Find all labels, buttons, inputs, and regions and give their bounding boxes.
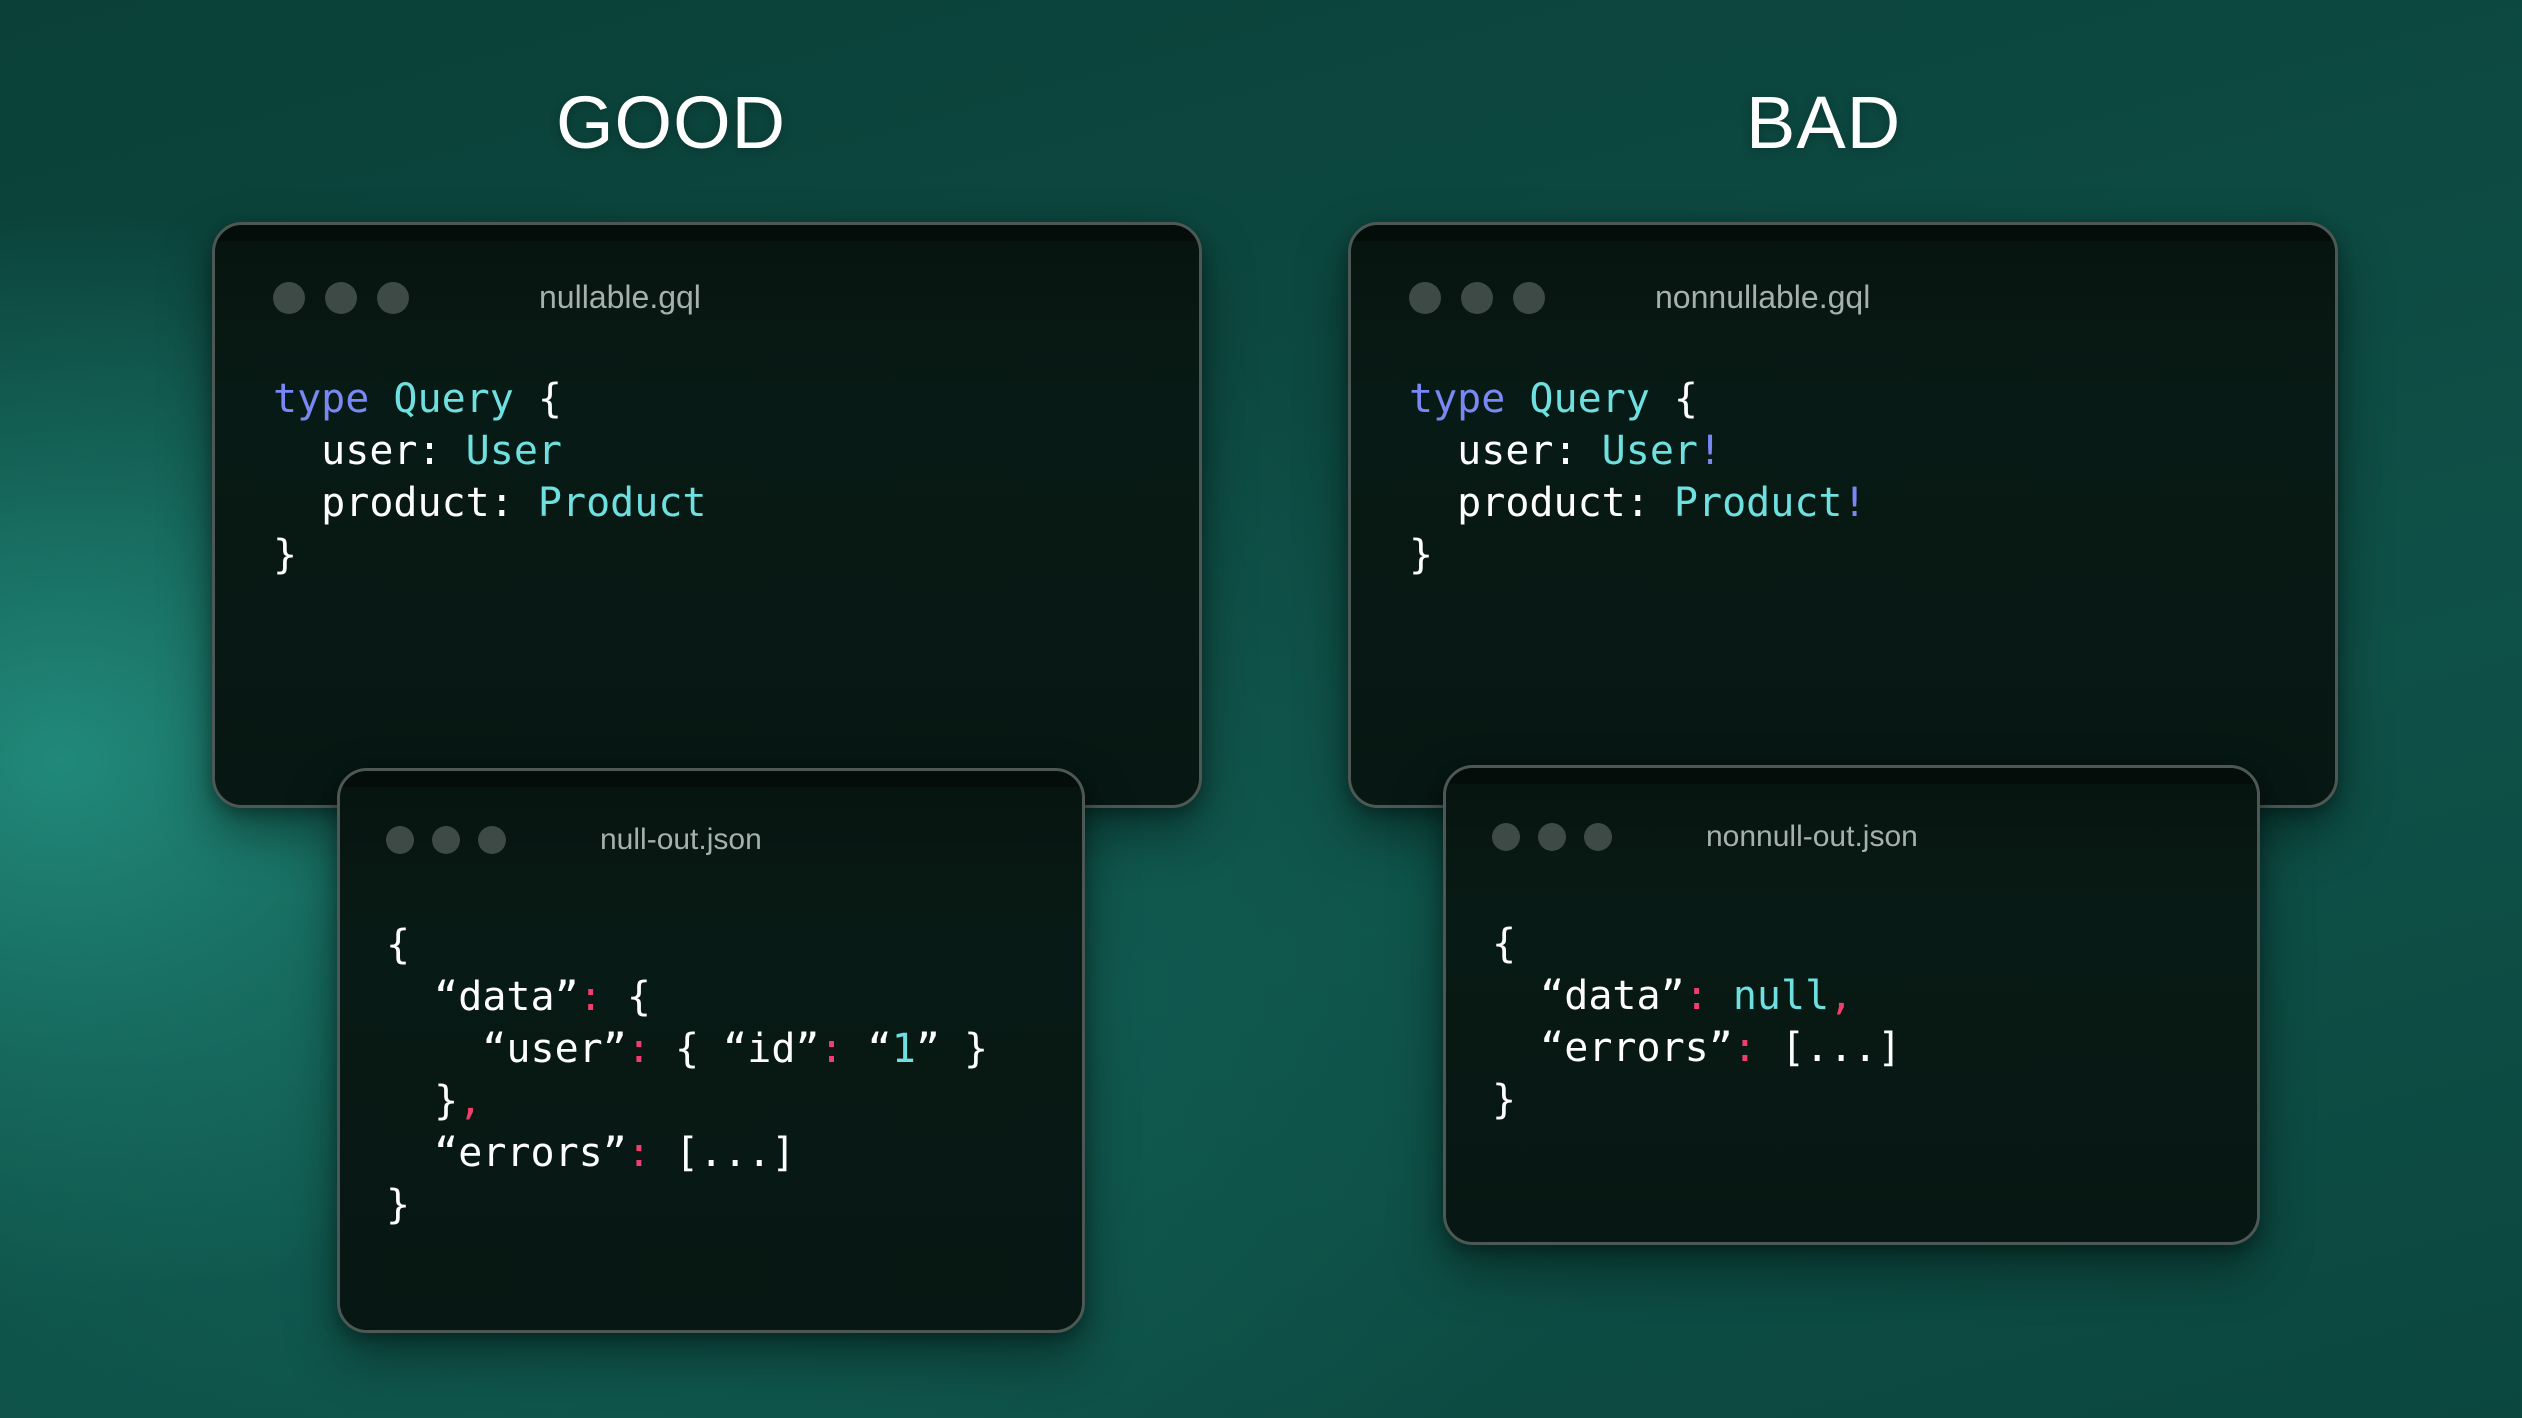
code-token: Query	[393, 376, 513, 422]
code-token: type	[1409, 376, 1505, 422]
code-token: }	[1492, 1077, 1516, 1123]
code-window-nullable-gql[interactable]: nullable.gql type Query { user: User pro…	[212, 222, 1202, 808]
code-token	[1709, 973, 1733, 1019]
code-block-nonnull-out-json: { “data”: null, “errors”: [...]}	[1492, 918, 1901, 1126]
traffic-lights	[386, 826, 506, 854]
code-token: Query	[1529, 376, 1649, 422]
code-line: “data”: null,	[1492, 970, 1901, 1022]
code-line: type Query {	[273, 373, 706, 425]
code-token: user:	[1409, 428, 1602, 474]
traffic-dot-minimize-icon[interactable]	[1538, 823, 1566, 851]
code-token: !	[1842, 480, 1866, 526]
window-filename: nonnullable.gql	[1655, 279, 1870, 316]
code-line: }	[273, 529, 706, 581]
code-line: “user”: { “id”: “1” }	[386, 1023, 988, 1075]
code-line: “errors”: [...]	[386, 1127, 988, 1179]
window-titlebar: null-out.json	[340, 823, 1082, 857]
code-token: }	[386, 1182, 410, 1228]
window-filename: nonnull-out.json	[1706, 820, 1918, 854]
traffic-lights	[1492, 823, 1612, 851]
code-token: {	[1650, 376, 1698, 422]
code-token: “	[844, 1026, 892, 1072]
section-title-good: GOOD	[556, 86, 786, 160]
code-token: {	[514, 376, 562, 422]
code-token: product:	[273, 480, 538, 526]
window-filename: nullable.gql	[539, 279, 701, 316]
window-titlebar: nonnull-out.json	[1446, 820, 2257, 854]
code-line: “errors”: [...]	[1492, 1022, 1901, 1074]
code-window-nonnullable-gql[interactable]: nonnullable.gql type Query { user: User!…	[1348, 222, 2338, 808]
code-block-null-out-json: { “data”: { “user”: { “id”: “1” } }, “er…	[386, 919, 988, 1231]
window-top-strip	[215, 225, 1199, 241]
code-token: 1	[892, 1026, 916, 1072]
code-line: }	[1409, 529, 1867, 581]
code-line: user: User!	[1409, 425, 1867, 477]
code-token: “errors”	[1492, 1025, 1733, 1071]
code-line: type Query {	[1409, 373, 1867, 425]
code-token: :	[627, 1130, 651, 1176]
code-token: “data”	[386, 974, 579, 1020]
code-line: }	[386, 1179, 988, 1231]
traffic-dot-close-icon[interactable]	[1492, 823, 1520, 851]
code-token: ,	[458, 1078, 482, 1124]
traffic-dot-minimize-icon[interactable]	[325, 282, 357, 314]
traffic-lights	[1409, 282, 1545, 314]
window-top-strip	[1446, 768, 2257, 784]
code-token: “errors”	[386, 1130, 627, 1176]
window-top-strip	[340, 771, 1082, 787]
code-token: Product	[538, 480, 707, 526]
code-token: [...]	[1757, 1025, 1902, 1071]
code-token: :	[579, 974, 603, 1020]
traffic-dot-close-icon[interactable]	[386, 826, 414, 854]
code-line: {	[386, 919, 988, 971]
code-token: {	[1492, 921, 1516, 967]
code-line: “data”: {	[386, 971, 988, 1023]
window-inner: null-out.json { “data”: { “user”: { “id”…	[340, 771, 1082, 1330]
code-token: [...]	[651, 1130, 796, 1176]
code-token: { “id”	[651, 1026, 820, 1072]
code-line: user: User	[273, 425, 706, 477]
window-filename: null-out.json	[600, 823, 762, 857]
traffic-dot-minimize-icon[interactable]	[432, 826, 460, 854]
code-block-nullable-gql: type Query { user: User product: Product…	[273, 373, 706, 581]
code-window-nonnull-out-json[interactable]: nonnull-out.json { “data”: null, “errors…	[1443, 765, 2260, 1245]
code-token: :	[820, 1026, 844, 1072]
traffic-dot-maximize-icon[interactable]	[377, 282, 409, 314]
code-token: type	[273, 376, 369, 422]
window-titlebar: nullable.gql	[215, 279, 1199, 316]
traffic-lights	[273, 282, 409, 314]
code-block-nonnullable-gql: type Query { user: User! product: Produc…	[1409, 373, 1867, 581]
code-line: }	[1492, 1074, 1901, 1126]
code-token	[1505, 376, 1529, 422]
code-token: user:	[273, 428, 466, 474]
traffic-dot-minimize-icon[interactable]	[1461, 282, 1493, 314]
traffic-dot-maximize-icon[interactable]	[478, 826, 506, 854]
code-token: }	[273, 532, 297, 578]
code-token: User	[466, 428, 562, 474]
code-token: “data”	[1492, 973, 1685, 1019]
code-token: :	[627, 1026, 651, 1072]
traffic-dot-maximize-icon[interactable]	[1584, 823, 1612, 851]
code-token: ” }	[916, 1026, 988, 1072]
window-inner: nonnullable.gql type Query { user: User!…	[1351, 225, 2335, 805]
code-line: {	[1492, 918, 1901, 970]
code-token: }	[1409, 532, 1433, 578]
window-inner: nonnull-out.json { “data”: null, “errors…	[1446, 768, 2257, 1242]
code-line: product: Product!	[1409, 477, 1867, 529]
code-token	[369, 376, 393, 422]
traffic-dot-close-icon[interactable]	[1409, 282, 1441, 314]
code-token: User	[1602, 428, 1698, 474]
code-token: :	[1733, 1025, 1757, 1071]
traffic-dot-maximize-icon[interactable]	[1513, 282, 1545, 314]
code-token: !	[1698, 428, 1722, 474]
code-token: {	[603, 974, 651, 1020]
code-token: :	[1685, 973, 1709, 1019]
code-token: Product	[1674, 480, 1843, 526]
code-token: {	[386, 922, 410, 968]
code-token: “user”	[386, 1026, 627, 1072]
window-titlebar: nonnullable.gql	[1351, 279, 2335, 316]
code-token: null	[1733, 973, 1829, 1019]
section-title-bad: BAD	[1746, 86, 1901, 160]
code-token: product:	[1409, 480, 1674, 526]
window-inner: nullable.gql type Query { user: User pro…	[215, 225, 1199, 805]
code-token: }	[386, 1078, 458, 1124]
code-line: },	[386, 1075, 988, 1127]
code-window-null-out-json[interactable]: null-out.json { “data”: { “user”: { “id”…	[337, 768, 1085, 1333]
window-top-strip	[1351, 225, 2335, 241]
traffic-dot-close-icon[interactable]	[273, 282, 305, 314]
comparison-stage: GOOD BAD nullable.gql type Query { user:…	[0, 0, 2522, 1418]
code-line: product: Product	[273, 477, 706, 529]
code-token: ,	[1829, 973, 1853, 1019]
